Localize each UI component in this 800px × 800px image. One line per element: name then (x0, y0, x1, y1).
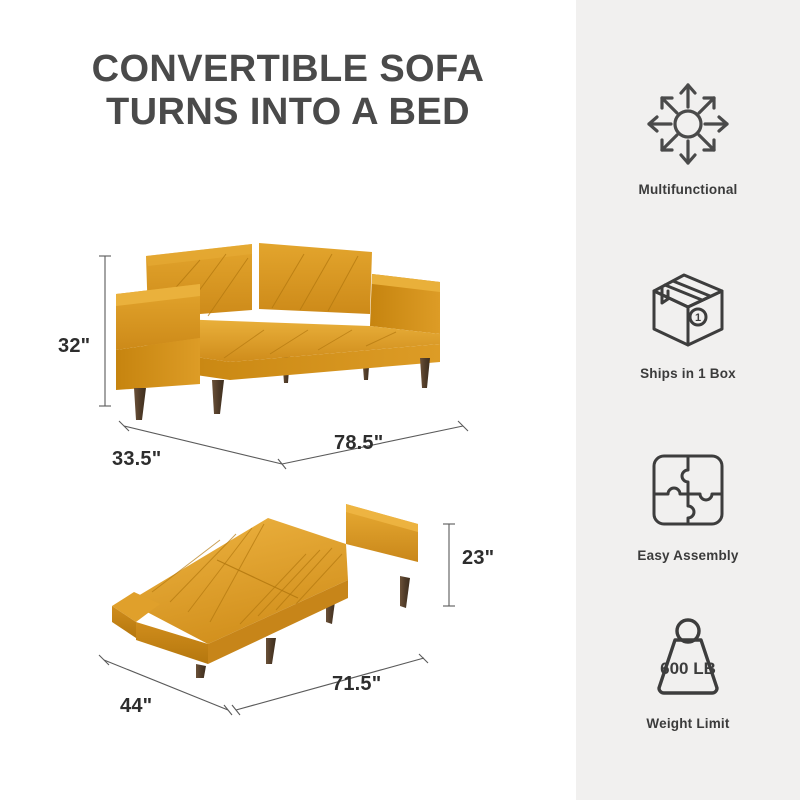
dimension-label-bed-height: 23" (462, 547, 494, 570)
expand-arrows-icon (576, 78, 800, 170)
feature-multifunctional: Multifunctional (576, 78, 800, 197)
dimension-label-bed-width: 71.5" (332, 673, 381, 696)
feature-easy-assembly: Easy Assembly (576, 444, 800, 563)
dimension-label-bed-depth: 44" (120, 695, 152, 718)
sofa-back-right (259, 243, 372, 314)
dimension-label-sofa-height: 32" (58, 335, 90, 358)
feature-label-ships-in-one-box: Ships in 1 Box (576, 366, 800, 381)
feature-label-easy-assembly: Easy Assembly (576, 548, 800, 563)
product-infographic: CONVERTIBLE SOFA TURNS INTO A BED (0, 0, 800, 800)
dimension-label-sofa-width: 78.5" (334, 432, 383, 455)
page-title: CONVERTIBLE SOFA TURNS INTO A BED (0, 48, 576, 134)
bed-flat-illustration (100, 488, 440, 678)
dimension-lines-sofa-footprint (118, 420, 468, 470)
feature-label-weight-limit: Weight Limit (576, 716, 800, 731)
feature-ships-in-one-box: 1 Ships in 1 Box (576, 262, 800, 381)
title-line-1: CONVERTIBLE SOFA (0, 48, 576, 91)
weight-limit-badge: 600 LB (660, 659, 716, 678)
bed-mattress-top (128, 518, 348, 644)
weight-icon: 600 LB (576, 612, 800, 704)
box-count-badge: 1 (695, 312, 701, 324)
feature-weight-limit: 600 LB Weight Limit (576, 612, 800, 731)
dimension-line-sofa-height (98, 254, 112, 408)
features-panel: Multifunctional 1 (576, 0, 800, 800)
dimension-line-bed-height (442, 522, 456, 608)
shipping-box-icon: 1 (576, 262, 800, 354)
title-line-2: TURNS INTO A BED (0, 91, 576, 134)
product-illustration-panel: CONVERTIBLE SOFA TURNS INTO A BED (0, 0, 576, 800)
puzzle-pieces-icon (576, 444, 800, 536)
dimension-label-sofa-depth: 33.5" (112, 448, 161, 471)
sofa-upright-illustration (104, 238, 504, 428)
feature-label-multifunctional: Multifunctional (576, 182, 800, 197)
